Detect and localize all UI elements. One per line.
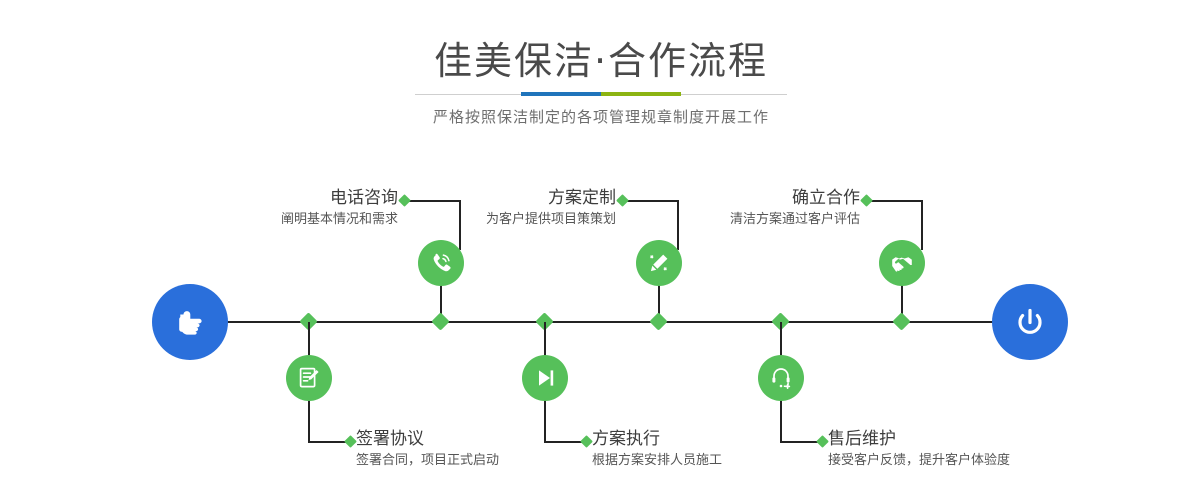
step-label: 售后维护 接受客户反馈，提升客户体验度 [828, 429, 1168, 470]
step-desc: 接受客户反馈，提升客户体验度 [828, 452, 1168, 470]
step-title: 确立合作 [610, 188, 860, 208]
axis-marker-diamond [431, 312, 449, 330]
connector-vertical [780, 400, 782, 442]
pencil-edit-icon [646, 250, 672, 276]
step-label: 电话咨询 阐明基本情况和需求 [150, 188, 398, 229]
connector-vertical [921, 200, 923, 250]
step-desc: 阐明基本情况和需求 [150, 211, 398, 229]
power-button-icon [1010, 302, 1050, 342]
axis-marker-diamond [649, 312, 667, 330]
step-icon-badge[interactable] [758, 355, 804, 401]
play-execute-icon [532, 365, 558, 391]
step-desc: 清洁方案通过客户评估 [610, 211, 860, 229]
timeline-end-node[interactable] [992, 284, 1068, 360]
step-title: 电话咨询 [150, 188, 398, 208]
pointing-hand-icon [170, 302, 210, 342]
connector-dot [344, 435, 357, 448]
divider-accent-blue [521, 92, 601, 96]
step-label: 确立合作 清洁方案通过客户评估 [610, 188, 860, 229]
step-label: 方案定制 为客户提供项目策策划 [370, 188, 616, 229]
document-sign-icon [296, 365, 322, 391]
step-desc: 为客户提供项目策策划 [370, 211, 616, 229]
page-title: 佳美保洁·合作流程 [0, 42, 1202, 80]
connector-dot [860, 194, 873, 207]
divider-accent-green [601, 92, 681, 96]
step-title: 方案定制 [370, 188, 616, 208]
step-icon-badge[interactable] [286, 355, 332, 401]
connector-vertical [308, 400, 310, 442]
step-icon-badge[interactable] [522, 355, 568, 401]
header: 佳美保洁·合作流程 [0, 0, 1202, 80]
handshake-icon [889, 250, 915, 276]
headset-support-icon [768, 365, 794, 391]
step-icon-badge[interactable] [879, 240, 925, 286]
connector-vertical [544, 400, 546, 442]
axis-marker-diamond [892, 312, 910, 330]
step-title: 售后维护 [828, 429, 1168, 449]
process-flow-infographic: 佳美保洁·合作流程 严格按照保洁制定的各项管理规章制度开展工作 [0, 0, 1202, 502]
step-icon-badge[interactable] [418, 240, 464, 286]
step-icon-badge[interactable] [636, 240, 682, 286]
connector-horizontal [866, 200, 922, 202]
phone-call-icon [428, 250, 454, 276]
timeline-start-node[interactable] [152, 284, 228, 360]
page-subtitle: 严格按照保洁制定的各项管理规章制度开展工作 [0, 106, 1202, 127]
